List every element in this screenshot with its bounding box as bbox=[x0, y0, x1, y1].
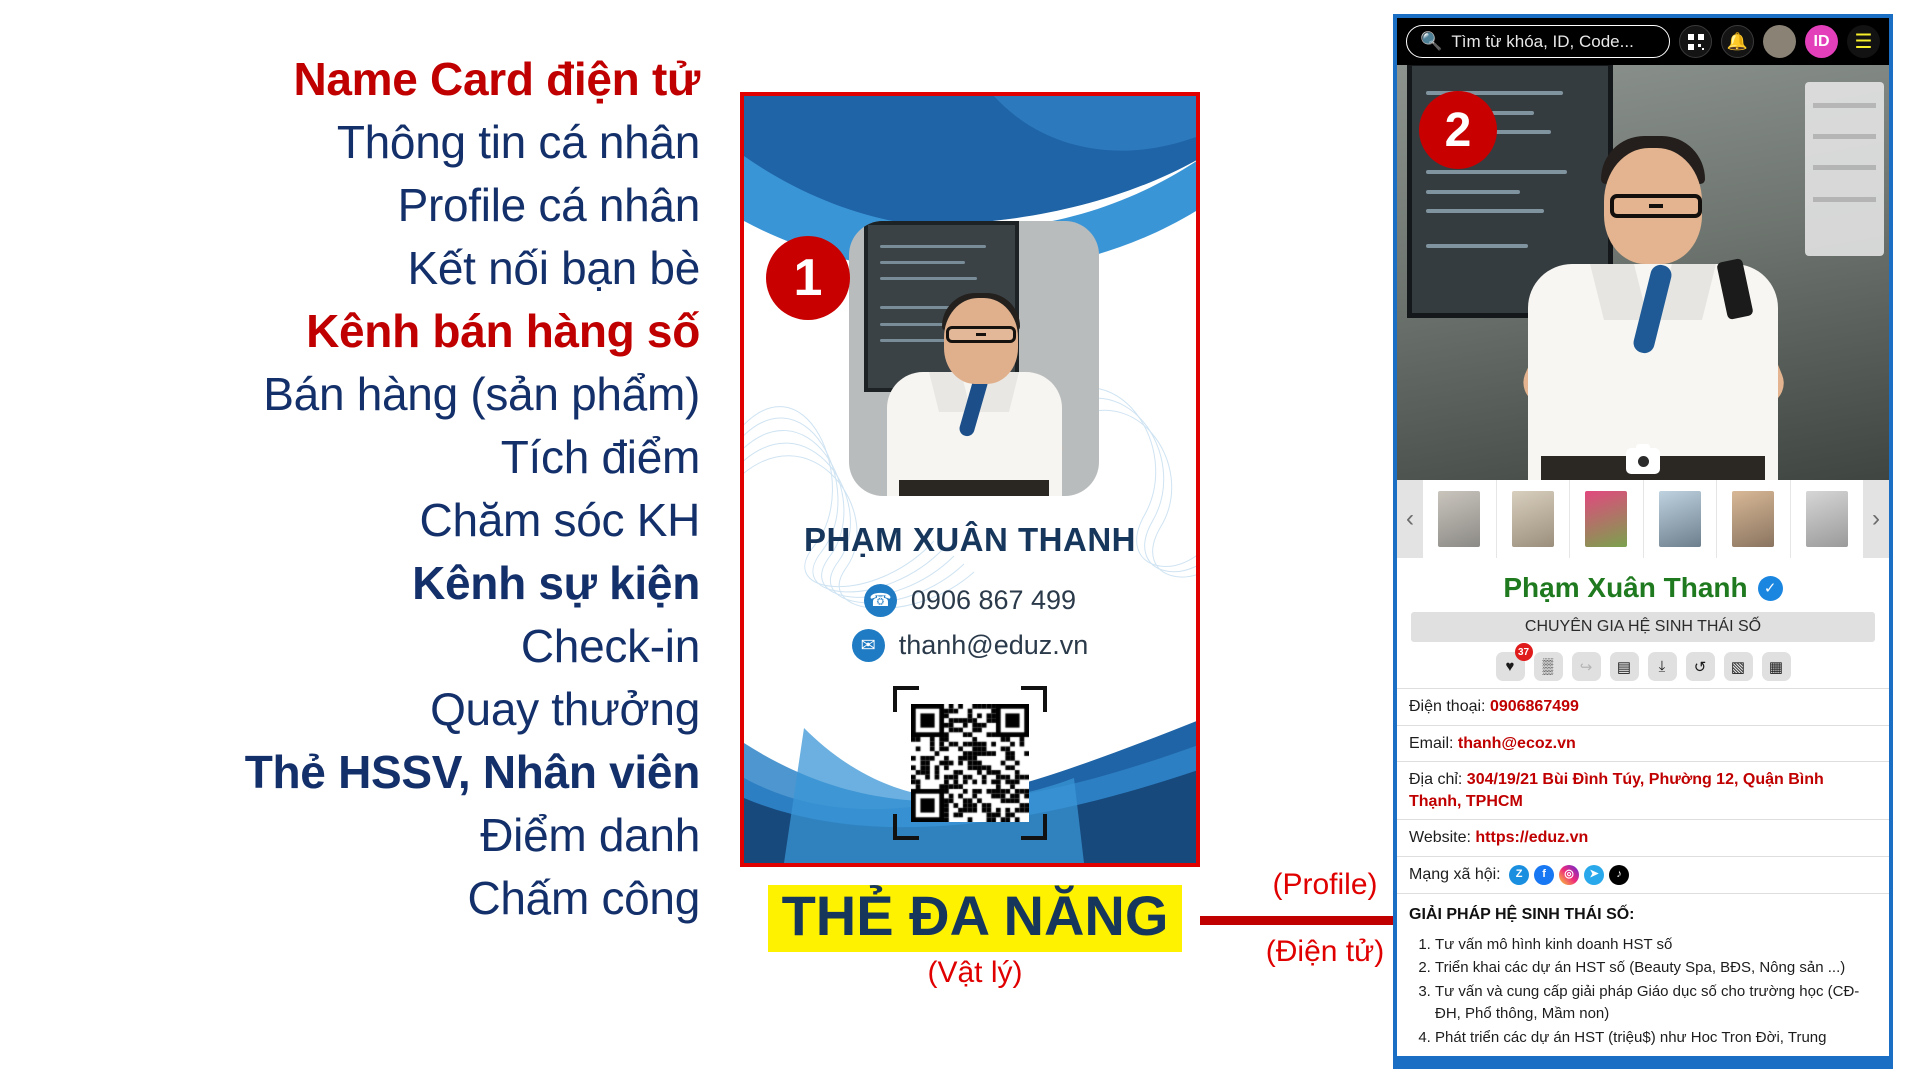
app-top-bar: 🔍 Tìm từ khóa, ID, Code... 🔔 ID ☰ bbox=[1397, 18, 1889, 65]
search-icon: 🔍 bbox=[1420, 31, 1442, 52]
tiktok-icon[interactable]: ♪ bbox=[1609, 865, 1629, 885]
info-row-label: Địa chỉ: bbox=[1409, 771, 1467, 788]
gallery-thumb[interactable] bbox=[1644, 480, 1718, 558]
info-row-label: Email: bbox=[1409, 735, 1458, 752]
info-row-value[interactable]: https://eduz.vn bbox=[1475, 829, 1588, 846]
gallery-thumb-image bbox=[1438, 491, 1480, 547]
qr-code-icon[interactable]: ▒ bbox=[1534, 652, 1563, 681]
chevron-left-icon[interactable]: ‹ bbox=[1397, 505, 1423, 533]
banner-title: THẺ ĐA NĂNG bbox=[768, 885, 1183, 952]
qr-code-image bbox=[911, 704, 1029, 822]
feature-list: Name Card điện tửThông tin cá nhânProfil… bbox=[120, 48, 700, 930]
card-email-value: thanh@eduz.vn bbox=[899, 630, 1089, 661]
feature-line: Thông tin cá nhân bbox=[120, 111, 700, 174]
profile-title: CHUYÊN GIA HỆ SINH THÁI SỐ bbox=[1411, 612, 1875, 642]
info-row: Địa chỉ: 304/19/21 Bùi Đình Túy, Phường … bbox=[1397, 761, 1889, 819]
heart-icon[interactable]: ♥37 bbox=[1496, 652, 1525, 681]
gallery-thumb[interactable] bbox=[1497, 480, 1571, 558]
search-input[interactable]: 🔍 Tìm từ khóa, ID, Code... bbox=[1406, 25, 1670, 58]
calendar-icon[interactable]: ▦ bbox=[1762, 652, 1791, 681]
side-slides-panel bbox=[1805, 82, 1884, 256]
feature-line: Kết nối bạn bè bbox=[120, 237, 700, 300]
instagram-icon[interactable]: ◎ bbox=[1559, 865, 1579, 885]
qr-scan-icon[interactable] bbox=[1679, 25, 1712, 58]
envelope-icon: ✉ bbox=[852, 629, 885, 662]
gallery-thumb[interactable] bbox=[1570, 480, 1644, 558]
zalo-icon[interactable]: Z bbox=[1509, 865, 1529, 885]
verified-check-icon: ✓ bbox=[1758, 576, 1783, 601]
info-row-label: Website: bbox=[1409, 829, 1475, 846]
info-row-value[interactable]: 0906867499 bbox=[1490, 698, 1579, 715]
solutions-list: Tư vấn mô hình kinh doanh HST sốTriển kh… bbox=[1435, 934, 1877, 1049]
business-card: 1 PHẠM XUÂN THANH ☎ 0906 867 499 ✉ thanh… bbox=[740, 92, 1200, 867]
search-placeholder: Tìm từ khóa, ID, Code... bbox=[1451, 32, 1633, 52]
mobile-profile-panel: 🔍 Tìm từ khóa, ID, Code... 🔔 ID ☰ bbox=[1393, 14, 1893, 1069]
contact-card-icon[interactable]: ▤ bbox=[1610, 652, 1639, 681]
card-person-name: PHẠM XUÂN THANH bbox=[744, 521, 1196, 559]
card-email-row: ✉ thanh@eduz.vn bbox=[744, 629, 1196, 662]
feature-line: Profile cá nhân bbox=[120, 174, 700, 237]
gallery-thumb-image bbox=[1806, 491, 1848, 547]
feature-line: Tích điểm bbox=[120, 426, 700, 489]
hero-step-badge: 2 bbox=[1419, 91, 1497, 169]
user-avatar[interactable] bbox=[1763, 25, 1796, 58]
solution-item: Triển khai các dự án HST số (Beauty Spa,… bbox=[1435, 957, 1877, 979]
profile-cover-photo[interactable]: 2 bbox=[1397, 65, 1889, 480]
download-icon[interactable]: ⤓ bbox=[1648, 652, 1677, 681]
card-phone-value: 0906 867 499 bbox=[911, 585, 1076, 616]
info-row: Điện thoại: 0906867499 bbox=[1397, 688, 1889, 725]
feature-line: Thẻ HSSV, Nhân viên bbox=[120, 741, 700, 804]
info-row-label: Điện thoại: bbox=[1409, 698, 1490, 715]
chevron-right-icon[interactable]: › bbox=[1863, 505, 1889, 533]
feature-line: Bán hàng (sản phẩm) bbox=[120, 363, 700, 426]
card-qr-code[interactable] bbox=[893, 686, 1047, 840]
qr-scan-glyph bbox=[1687, 33, 1705, 51]
id-badge-icon[interactable]: ID bbox=[1805, 25, 1838, 58]
gallery-thumb[interactable] bbox=[1423, 480, 1497, 558]
name-card-icon[interactable]: ▧ bbox=[1724, 652, 1753, 681]
camera-icon[interactable] bbox=[1626, 448, 1660, 474]
history-icon[interactable]: ↺ bbox=[1686, 652, 1715, 681]
panel-bottom-bar bbox=[1397, 1056, 1889, 1065]
solutions-title: GIẢI PHÁP HỆ SINH THÁI SỐ: bbox=[1409, 906, 1877, 924]
hamburger-menu-icon[interactable]: ☰ bbox=[1847, 25, 1880, 58]
photo-gallery-strip: ‹ › bbox=[1397, 480, 1889, 558]
feature-line: Quay thưởng bbox=[120, 678, 700, 741]
gallery-thumb-image bbox=[1585, 491, 1627, 547]
feature-line: Check-in bbox=[120, 615, 700, 678]
card-phone-row: ☎ 0906 867 499 bbox=[744, 584, 1196, 617]
feature-line: Chăm sóc KH bbox=[120, 489, 700, 552]
feature-line: Kênh sự kiện bbox=[120, 552, 700, 615]
banner-subtitle: (Vật lý) bbox=[740, 956, 1210, 990]
facebook-icon[interactable]: f bbox=[1534, 865, 1554, 885]
gallery-items bbox=[1423, 480, 1863, 558]
gallery-thumb[interactable] bbox=[1791, 480, 1864, 558]
card-step-badge: 1 bbox=[766, 236, 850, 320]
info-row: Email: thanh@ecoz.vn bbox=[1397, 725, 1889, 762]
bell-icon[interactable]: 🔔 bbox=[1721, 25, 1754, 58]
profile-action-row: ♥37▒↪▤⤓↺▧▦ bbox=[1397, 642, 1889, 688]
social-icon-group: Zf◎➤♪ bbox=[1509, 865, 1629, 885]
gallery-thumb-image bbox=[1732, 491, 1774, 547]
feature-line: Chấm công bbox=[120, 867, 700, 930]
social-label: Mạng xã hội: bbox=[1409, 866, 1501, 883]
gallery-thumb[interactable] bbox=[1717, 480, 1791, 558]
phone-icon: ☎ bbox=[864, 584, 897, 617]
profile-info-rows: Điện thoại: 0906867499Email: thanh@ecoz.… bbox=[1397, 688, 1889, 856]
info-row: Website: https://eduz.vn bbox=[1397, 819, 1889, 856]
like-count-badge: 37 bbox=[1515, 643, 1533, 661]
gallery-thumb-image bbox=[1659, 491, 1701, 547]
feature-line: Kênh bán hàng số bbox=[120, 300, 700, 363]
solution-item: Tư vấn mô hình kinh doanh HST số bbox=[1435, 934, 1877, 956]
feature-line: Name Card điện tử bbox=[120, 48, 700, 111]
social-row: Mạng xã hội: Zf◎➤♪ bbox=[1397, 856, 1889, 893]
card-portrait-photo bbox=[849, 221, 1099, 496]
gallery-thumb-image bbox=[1512, 491, 1554, 547]
solution-item: Phát triển các dự án HST (triệu$) như Ho… bbox=[1435, 1027, 1877, 1049]
multifunction-card-banner: THẺ ĐA NĂNG (Vật lý) bbox=[740, 885, 1210, 990]
profile-name: Phạm Xuân Thanh bbox=[1503, 572, 1747, 604]
share-icon[interactable]: ↪ bbox=[1572, 652, 1601, 681]
telegram-icon[interactable]: ➤ bbox=[1584, 865, 1604, 885]
info-row-value[interactable]: 304/19/21 Bùi Đình Túy, Phường 12, Quận … bbox=[1409, 771, 1824, 810]
solution-item: Tư vấn và cung cấp giải pháp Giáo dục số… bbox=[1435, 981, 1877, 1025]
feature-line: Điểm danh bbox=[120, 804, 700, 867]
info-row-value[interactable]: thanh@ecoz.vn bbox=[1458, 735, 1576, 752]
profile-name-row: Phạm Xuân Thanh ✓ bbox=[1397, 558, 1889, 612]
solutions-section: GIẢI PHÁP HỆ SINH THÁI SỐ: Tư vấn mô hìn… bbox=[1397, 893, 1889, 1049]
